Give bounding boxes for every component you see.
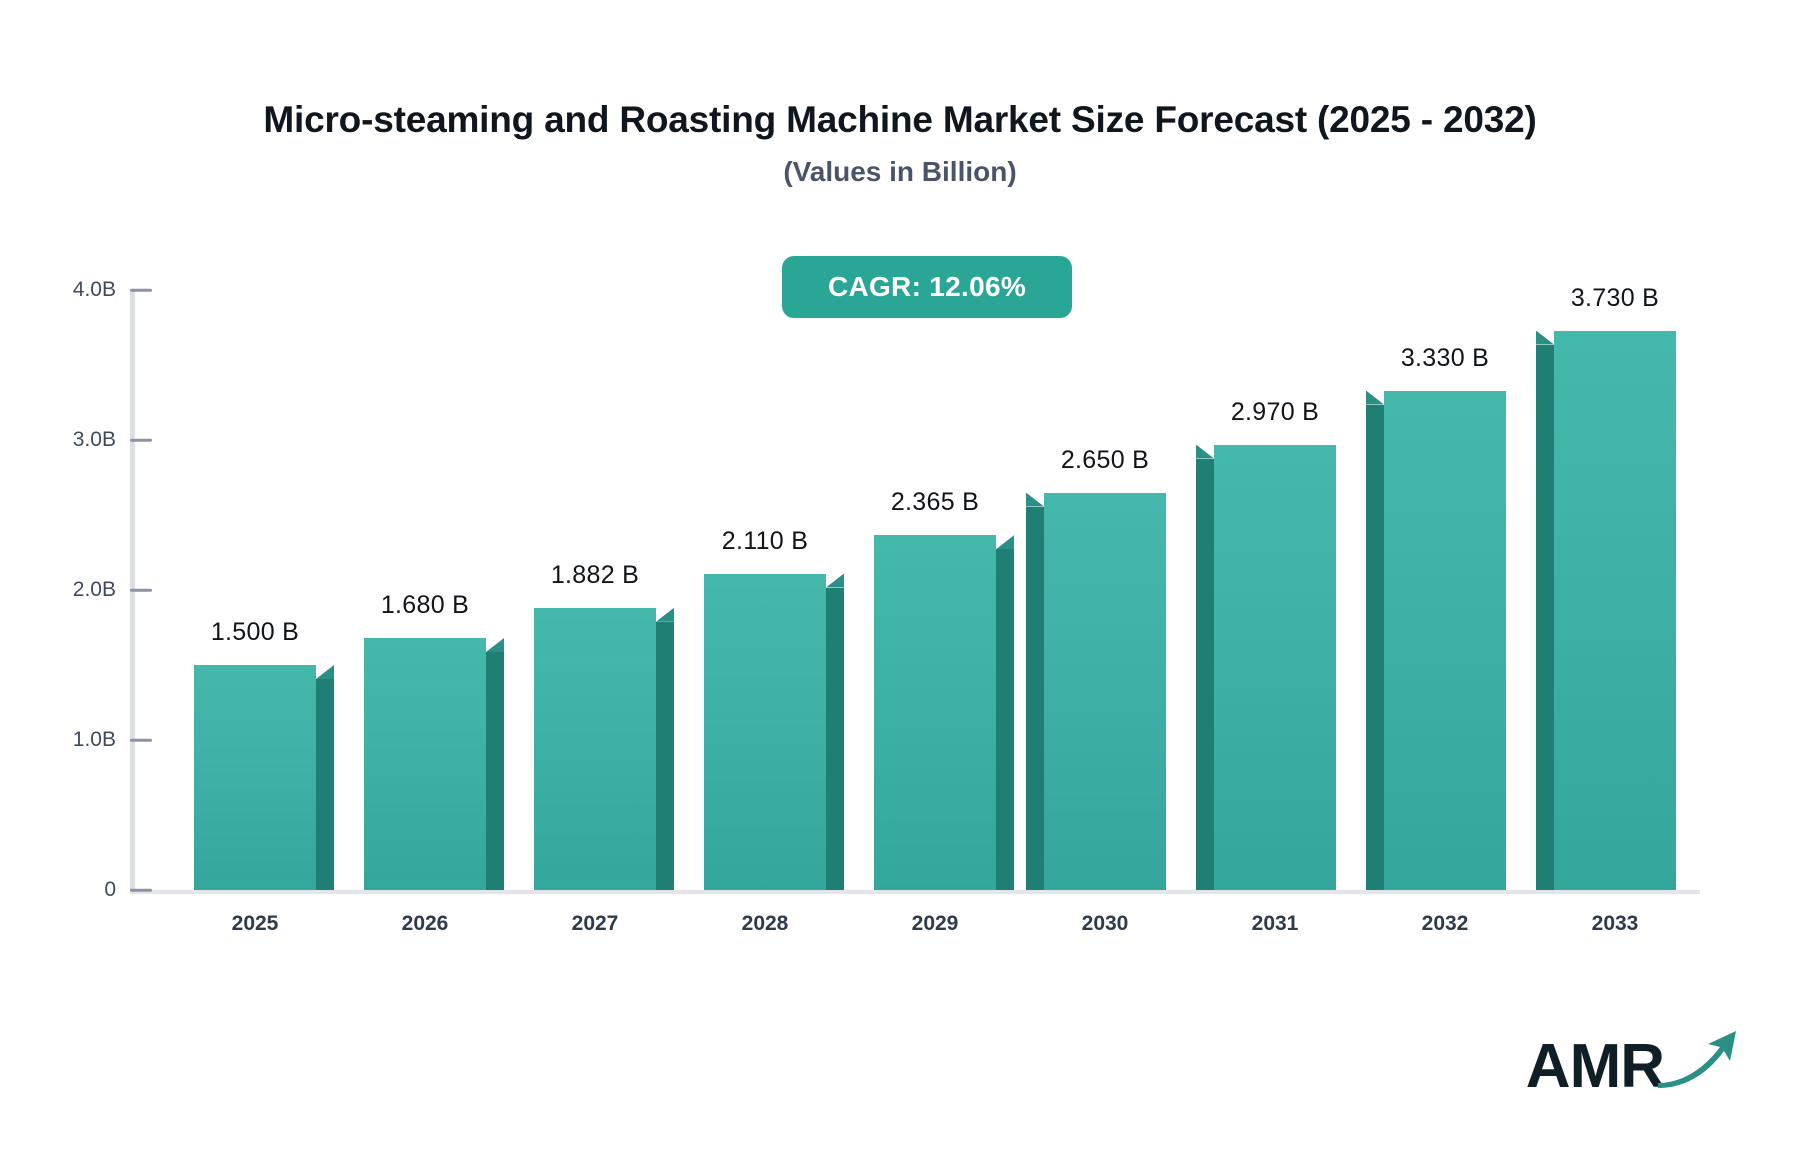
bar-top-bevel xyxy=(1196,445,1214,459)
bar-top-bevel xyxy=(656,608,674,622)
bar-item[interactable]: 3.730 B2033 xyxy=(1554,331,1676,891)
bar-front-face xyxy=(1044,493,1166,891)
x-axis-tick-label: 2030 xyxy=(1082,912,1129,936)
bar-top-bevel xyxy=(1536,331,1554,345)
bar-top-bevel xyxy=(1366,391,1384,405)
bar-value-label: 1.882 B xyxy=(551,561,639,590)
bar-item[interactable]: 2.650 B2030 xyxy=(1044,493,1166,891)
y-axis-tick-label: 3.0B xyxy=(73,428,116,451)
x-axis-tick-label: 2032 xyxy=(1422,912,1469,936)
bar-front-face xyxy=(1214,445,1336,891)
bar-side-face xyxy=(1026,507,1044,891)
y-axis-tick-label: 0 xyxy=(104,878,116,901)
x-axis-tick-label: 2031 xyxy=(1252,912,1299,936)
bar-value-label: 3.730 B xyxy=(1571,284,1659,313)
bar-side-face xyxy=(656,622,674,890)
bar-item[interactable]: 1.500 B2025 xyxy=(194,665,316,890)
bar-value-label: 2.650 B xyxy=(1061,446,1149,475)
bar-top-bevel xyxy=(996,535,1014,549)
bar-side-face xyxy=(826,588,844,891)
amr-logo-text: AMR xyxy=(1526,1036,1664,1098)
x-axis-tick-label: 2033 xyxy=(1592,912,1639,936)
bar-front-face xyxy=(364,638,486,890)
bar-series: 1.500 B20251.680 B20261.882 B20272.110 B… xyxy=(130,290,1700,890)
x-axis-tick-label: 2025 xyxy=(232,912,279,936)
x-axis-tick-label: 2028 xyxy=(742,912,789,936)
chart-plot-area: 4.0B3.0B2.0B1.0B0 1.500 B20251.680 B2026… xyxy=(130,290,1700,890)
bar-value-label: 2.970 B xyxy=(1231,398,1319,427)
bar-side-face xyxy=(1196,459,1214,891)
bar-top-bevel xyxy=(316,665,334,679)
bar-item[interactable]: 2.110 B2028 xyxy=(704,574,826,891)
bar-front-face xyxy=(194,665,316,890)
bar-item[interactable]: 2.970 B2031 xyxy=(1214,445,1336,891)
bar-front-face xyxy=(534,608,656,890)
bar-front-face xyxy=(874,535,996,890)
bar-item[interactable]: 1.680 B2026 xyxy=(364,638,486,890)
chart-subtitle: (Values in Billion) xyxy=(0,157,1800,188)
bar-value-label: 3.330 B xyxy=(1401,344,1489,373)
x-axis-tick-label: 2029 xyxy=(912,912,959,936)
y-axis-tick-label: 1.0B xyxy=(73,728,116,751)
x-axis-line xyxy=(130,890,1700,894)
y-axis-tick-label: 4.0B xyxy=(73,278,116,301)
amr-logo: AMR xyxy=(1526,1027,1740,1098)
bar-value-label: 2.365 B xyxy=(891,488,979,517)
bar-side-face xyxy=(996,549,1014,890)
bar-top-bevel xyxy=(486,638,504,652)
growth-arrow-icon xyxy=(1654,1027,1740,1094)
bar-side-face xyxy=(1366,405,1384,891)
y-axis-tick-label: 2.0B xyxy=(73,578,116,601)
bar-side-face xyxy=(316,679,334,890)
bar-item[interactable]: 1.882 B2027 xyxy=(534,608,656,890)
bar-value-label: 1.680 B xyxy=(381,591,469,620)
bar-side-face xyxy=(486,652,504,890)
bar-value-label: 2.110 B xyxy=(722,527,808,556)
bar-side-face xyxy=(1536,345,1554,891)
chart-header: Micro-steaming and Roasting Machine Mark… xyxy=(0,0,1800,187)
bar-item[interactable]: 3.330 B2032 xyxy=(1384,391,1506,891)
x-axis-tick-label: 2027 xyxy=(572,912,619,936)
page-title: Micro-steaming and Roasting Machine Mark… xyxy=(0,100,1800,141)
bar-item[interactable]: 2.365 B2029 xyxy=(874,535,996,890)
bar-value-label: 1.500 B xyxy=(211,618,299,647)
bar-top-bevel xyxy=(1026,493,1044,507)
bar-front-face xyxy=(1384,391,1506,891)
x-axis-tick-label: 2026 xyxy=(402,912,449,936)
bar-front-face xyxy=(704,574,826,891)
bar-top-bevel xyxy=(826,574,844,588)
bar-front-face xyxy=(1554,331,1676,891)
